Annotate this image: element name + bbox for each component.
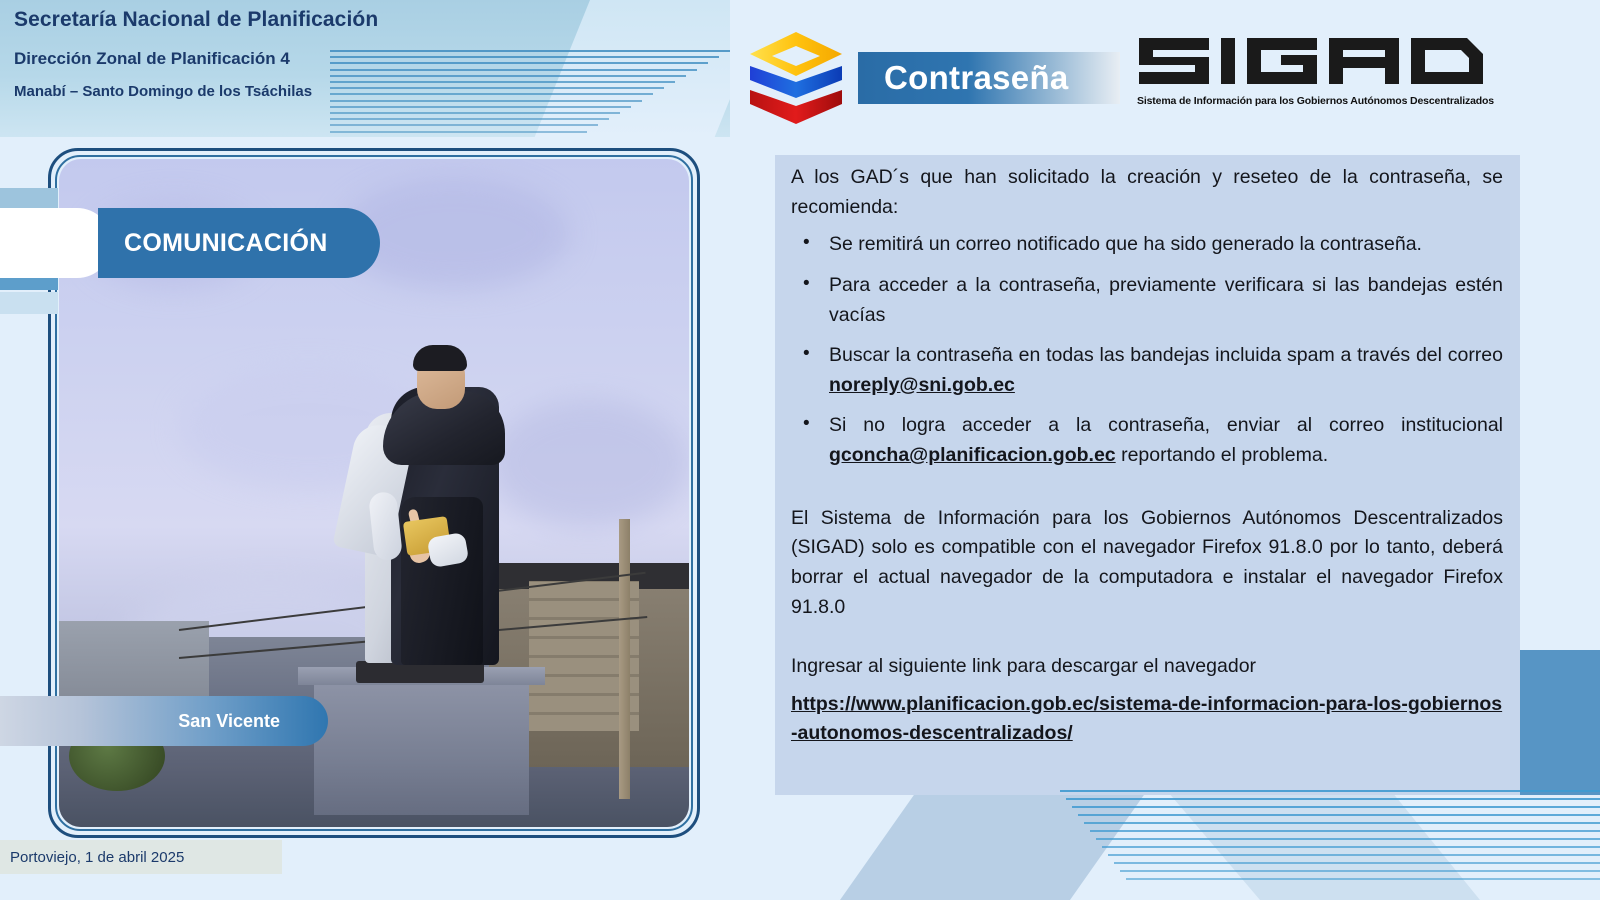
- sigad-logo: Sistema de Información para los Gobierno…: [1135, 30, 1565, 107]
- badge-white-backdrop: [0, 208, 112, 278]
- intro-paragraph: A los GAD´s que han solicitado la creaci…: [791, 163, 1503, 222]
- list-item: Para acceder a la contraseña, previament…: [791, 271, 1503, 330]
- list-item: Buscar la contraseña en todas las bandej…: [791, 341, 1503, 400]
- content-panel: A los GAD´s que han solicitado la creaci…: [775, 155, 1520, 795]
- download-url-link[interactable]: https://www.planificacion.gob.ec/sistema…: [791, 690, 1503, 749]
- footer-place-date: Portoviejo, 1 de abril 2025: [0, 840, 282, 874]
- decor-stripes-bottom-right: [1060, 790, 1600, 890]
- header-stripes-decor: [330, 50, 730, 137]
- bullet-text-post: reportando el problema.: [1116, 444, 1328, 466]
- subtitle-provinces: Manabí – Santo Domingo de los Tsáchilas: [14, 83, 378, 100]
- page-title: Secretaría Nacional de Planificación: [14, 8, 378, 32]
- subtitle-zone: Dirección Zonal de Planificación 4: [14, 49, 378, 69]
- topic-title-label: Contraseña: [858, 59, 1069, 97]
- list-item: Se remitirá un correo notificado que ha …: [791, 230, 1503, 260]
- bullet-text-pre: Para acceder a la contraseña, previament…: [829, 274, 1503, 326]
- browser-requirement-paragraph: El Sistema de Información para los Gobie…: [791, 504, 1503, 623]
- comunicacion-badge: COMUNICACIÓN: [98, 208, 380, 278]
- ecuador-government-logo-icon: [738, 26, 854, 130]
- photo-caption-label: San Vicente: [178, 711, 328, 732]
- comunicacion-badge-label: COMUNICACIÓN: [98, 229, 328, 258]
- content-text: A los GAD´s que han solicitado la creaci…: [791, 163, 1503, 748]
- sigad-tagline: Sistema de Información para los Gobierno…: [1137, 95, 1565, 107]
- email-link-noreply[interactable]: noreply@sni.gob.ec: [829, 374, 1015, 396]
- left-decor-square-3: [0, 292, 58, 314]
- recommendations-list: Se remitirá un correo notificado que ha …: [791, 230, 1503, 470]
- logo-strip: Contraseña Sistema de Información para l…: [730, 0, 1600, 137]
- bullet-text-pre: Buscar la contraseña en todas las bandej…: [829, 344, 1503, 366]
- header-band: Secretaría Nacional de Planificación Dir…: [0, 0, 730, 137]
- header-titles: Secretaría Nacional de Planificación Dir…: [14, 8, 378, 100]
- footer-place-date-label: Portoviejo, 1 de abril 2025: [0, 849, 184, 866]
- list-item: Si no logra acceder a la contraseña, env…: [791, 411, 1503, 470]
- sigad-wordmark-icon: [1135, 30, 1501, 92]
- bullet-text-pre: Si no logra acceder a la contraseña, env…: [829, 414, 1503, 436]
- spacer-2: [791, 630, 1503, 652]
- spacer-1: [791, 482, 1503, 504]
- topic-title-band: Contraseña: [858, 52, 1120, 104]
- bullet-text-pre: Se remitirá un correo notificado que ha …: [829, 233, 1422, 255]
- slide-root: Secretaría Nacional de Planificación Dir…: [0, 0, 1600, 900]
- download-intro-text: Ingresar al siguiente link para descarga…: [791, 652, 1503, 682]
- photo-caption-pill: San Vicente: [0, 696, 328, 746]
- email-link-gconcha[interactable]: gconcha@planificacion.gob.ec: [829, 444, 1116, 466]
